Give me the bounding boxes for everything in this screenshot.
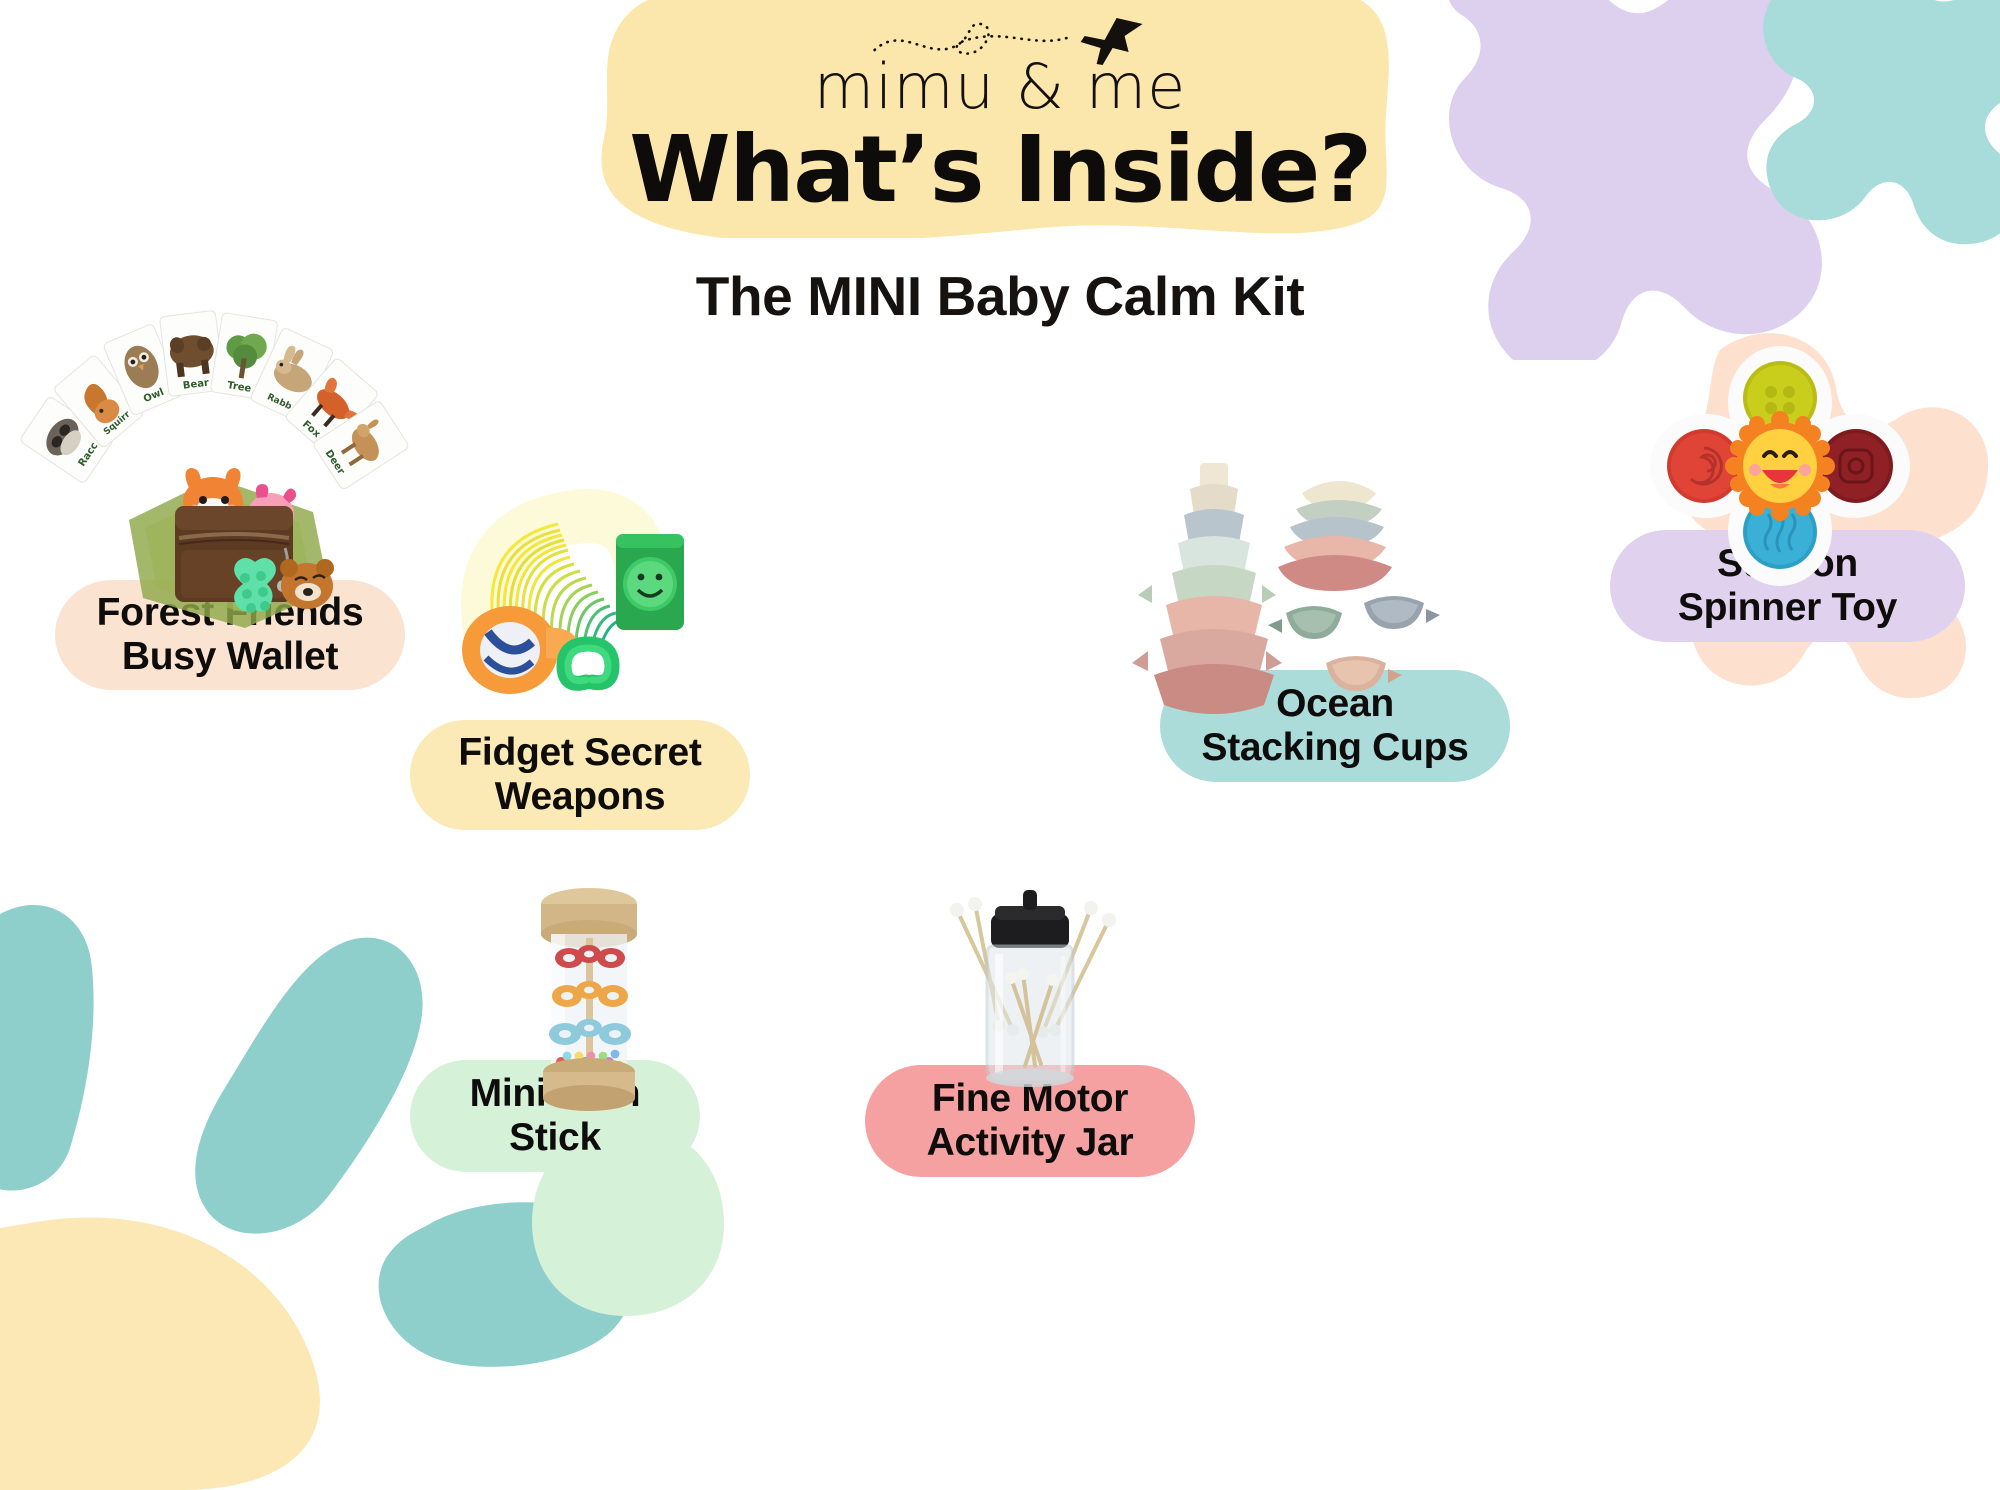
- poster-canvas: mimu & me What’s Inside? The MINI Baby C…: [0, 0, 2000, 1429]
- fidget-secret-weapons-photo: [438, 480, 718, 710]
- product-card-fidget-secret-weapons[interactable]: Fidget Secret Weapons: [410, 480, 750, 890]
- fine-motor-activity-jar-photo: [895, 880, 1165, 1120]
- ocean-stacking-cups-photo: [1150, 455, 1520, 745]
- product-card-fine-motor-activity-jar[interactable]: Fine Motor Activity Jar: [865, 880, 1195, 1200]
- product-card-ocean-stacking-cups[interactable]: Ocean Stacking Cups: [1150, 455, 1520, 855]
- product-card-mini-rain-stick[interactable]: Mini Rain Stick: [410, 880, 750, 1200]
- mini-rain-stick-photo: [525, 880, 655, 1110]
- product-label-pill-fidget-secret-weapons: Fidget Secret Weapons: [410, 720, 750, 830]
- suction-spinner-toy-photo: [1640, 340, 1920, 590]
- busy-wallet-photo: [95, 420, 355, 640]
- product-grid: Racc Squirr: [0, 0, 2000, 1429]
- product-card-suction-spinner-toy[interactable]: Suction Spinner Toy: [1600, 340, 1970, 670]
- product-card-forest-friends-busy-wallet[interactable]: Racc Squirr: [55, 310, 405, 710]
- product-label-text: Fidget Secret Weapons: [458, 731, 701, 820]
